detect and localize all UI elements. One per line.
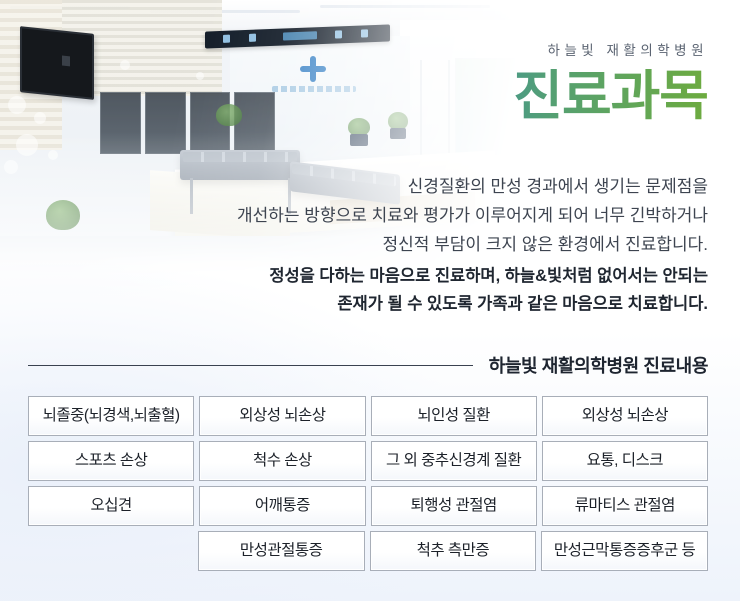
table-cell: 척추 측만증 <box>370 531 537 571</box>
table-cell: 오십견 <box>28 486 194 526</box>
table-cell-empty <box>28 531 193 569</box>
table-cell: 만성근막통증증후군 등 <box>541 531 708 571</box>
table-cell: 뇌졸중(뇌경색,뇌출혈) <box>28 396 194 436</box>
table-row: 뇌졸중(뇌경색,뇌출혈) 외상성 뇌손상 뇌인성 질환 외상성 뇌손상 <box>28 396 708 436</box>
emphasis-line: 정성을 다하는 마음으로 진료하며, 하늘&빛처럼 없어서는 안되는 <box>148 262 708 290</box>
emphasis-line: 존재가 될 수 있도록 가족과 같은 마음으로 치료합니다. <box>148 290 708 318</box>
table-cell: 퇴행성 관절염 <box>371 486 537 526</box>
header-subtitle: 하늘빛 재활의학병원 <box>228 44 708 58</box>
intro-line: 신경질환의 만성 경과에서 생기는 문제점을 <box>148 172 708 201</box>
intro-line: 개선하는 방향으로 치료와 평가가 이루어지게 되어 너무 긴박하거나 <box>148 201 708 230</box>
section-divider <box>28 365 473 366</box>
section-title: 하늘빛 재활의학병원 진료내용 <box>489 352 708 378</box>
table-row: 오십견 어깨통증 퇴행성 관절염 류마티스 관절염 <box>28 486 708 526</box>
table-cell: 스포츠 손상 <box>28 441 194 481</box>
page-root: 하늘빛 재활의학병원 진료과목 신경질환의 만성 경과에서 생기는 문제점을 개… <box>0 0 740 601</box>
table-row: 스포츠 손상 척수 손상 그 외 중추신경계 질환 요통, 디스크 <box>28 441 708 481</box>
table-cell: 만성관절통증 <box>198 531 365 571</box>
table-cell: 요통, 디스크 <box>542 441 708 481</box>
intro-paragraph: 신경질환의 만성 경과에서 생기는 문제점을 개선하는 방향으로 치료와 평가가… <box>148 172 708 259</box>
table-cell: 척수 손상 <box>199 441 365 481</box>
emphasis-paragraph: 정성을 다하는 마음으로 진료하며, 하늘&빛처럼 없어서는 안되는 존재가 될… <box>148 262 708 318</box>
table-cell: 류마티스 관절염 <box>542 486 708 526</box>
intro-line: 정신적 부담이 크지 않은 환경에서 진료합니다. <box>148 230 708 259</box>
table-row: 만성관절통증 척추 측만증 만성근막통증증후군 등 <box>28 531 708 571</box>
table-cell: 뇌인성 질환 <box>371 396 537 436</box>
treatment-table: 뇌졸중(뇌경색,뇌출혈) 외상성 뇌손상 뇌인성 질환 외상성 뇌손상 스포츠 … <box>28 396 708 576</box>
table-cell: 외상성 뇌손상 <box>199 396 365 436</box>
table-cell: 외상성 뇌손상 <box>542 396 708 436</box>
table-cell: 그 외 중추신경계 질환 <box>371 441 537 481</box>
page-header: 하늘빛 재활의학병원 진료과목 <box>228 44 708 124</box>
page-title: 진료과목 <box>228 69 708 124</box>
section-heading: 하늘빛 재활의학병원 진료내용 <box>28 352 708 378</box>
table-cell: 어깨통증 <box>199 486 365 526</box>
